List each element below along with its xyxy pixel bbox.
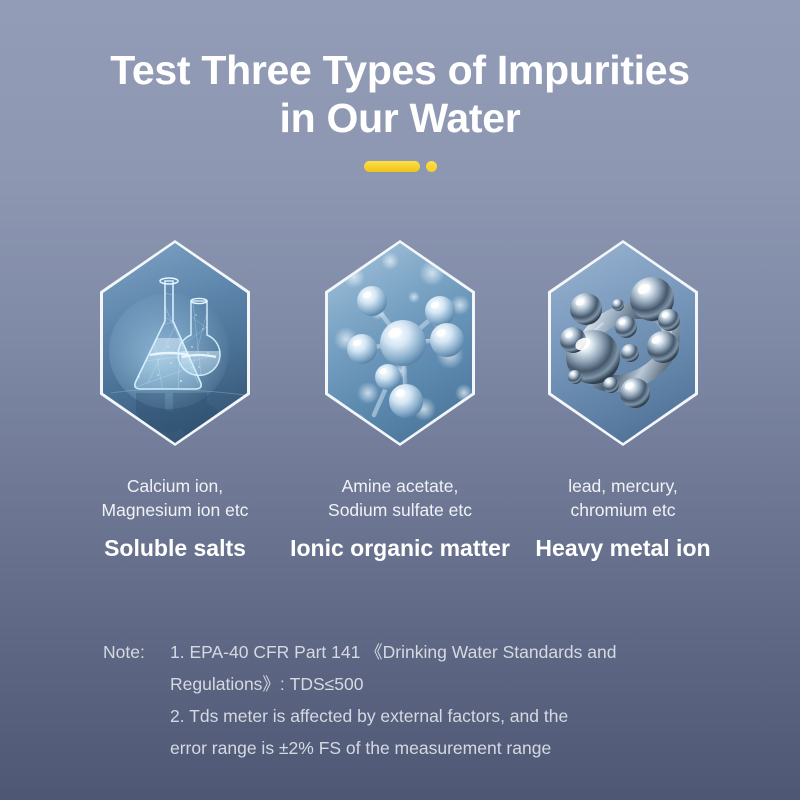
impurity-card-2-hexagon xyxy=(325,240,475,446)
hexagon-inner-2 xyxy=(328,243,472,443)
title-divider xyxy=(0,161,800,172)
footnote-line-4: error range is ±2% FS of the measurement… xyxy=(170,732,743,764)
impurity-card-1-examples: Calcium ion, Magnesium ion etc xyxy=(45,474,305,522)
impurity-card-2-examples: Amine acetate, Sodium sulfate etc xyxy=(270,474,530,522)
impurity-labels-row: Soluble salts Ionic organic matter Heavy… xyxy=(0,532,800,566)
hexagon-border-1 xyxy=(100,240,250,446)
page-title: Test Three Types of Impurities in Our Wa… xyxy=(0,46,800,142)
molecule-structure-icon xyxy=(328,243,472,443)
card-2-example-line-1: Amine acetate, xyxy=(270,474,530,498)
card-3-example-line-1: lead, mercury, xyxy=(493,474,753,498)
laboratory-flasks-icon xyxy=(103,243,247,443)
footnote-line-3: 2. Tds meter is affected by external fac… xyxy=(170,700,743,732)
impurity-card-1-hexagon xyxy=(100,240,250,446)
card-2-example-line-2: Sodium sulfate etc xyxy=(270,498,530,522)
page-title-line-2: in Our Water xyxy=(0,94,800,142)
impurity-card-3-hexagon xyxy=(548,240,698,446)
divider-bar-icon xyxy=(364,161,420,172)
impurity-icon-row xyxy=(0,240,800,446)
footnote-block: Note: 1. EPA-40 CFR Part 141 《Drinking W… xyxy=(103,636,743,764)
card-3-example-line-2: chromium etc xyxy=(493,498,753,522)
footnote-line-2: Regulations》: TDS≤500 xyxy=(170,668,743,700)
card-1-example-line-1: Calcium ion, xyxy=(45,474,305,498)
hexagon-inner-3 xyxy=(551,243,695,443)
impurity-card-2-label: Ionic organic matter xyxy=(270,532,530,564)
card-1-example-line-2: Magnesium ion etc xyxy=(45,498,305,522)
metal-spheres-icon xyxy=(551,243,695,443)
hexagon-inner-1 xyxy=(103,243,247,443)
page-title-line-1: Test Three Types of Impurities xyxy=(0,46,800,94)
impurity-card-3-examples: lead, mercury, chromium etc xyxy=(493,474,753,522)
hexagon-border-2 xyxy=(325,240,475,446)
footnote-label: Note: xyxy=(103,636,145,668)
divider-dot-icon xyxy=(426,161,437,172)
footnote-body: 1. EPA-40 CFR Part 141 《Drinking Water S… xyxy=(170,636,743,764)
footnote-line-1: 1. EPA-40 CFR Part 141 《Drinking Water S… xyxy=(170,636,743,668)
hexagon-border-3 xyxy=(548,240,698,446)
impurity-card-3-label: Heavy metal ion xyxy=(493,532,753,564)
impurity-card-1-label: Soluble salts xyxy=(45,532,305,564)
